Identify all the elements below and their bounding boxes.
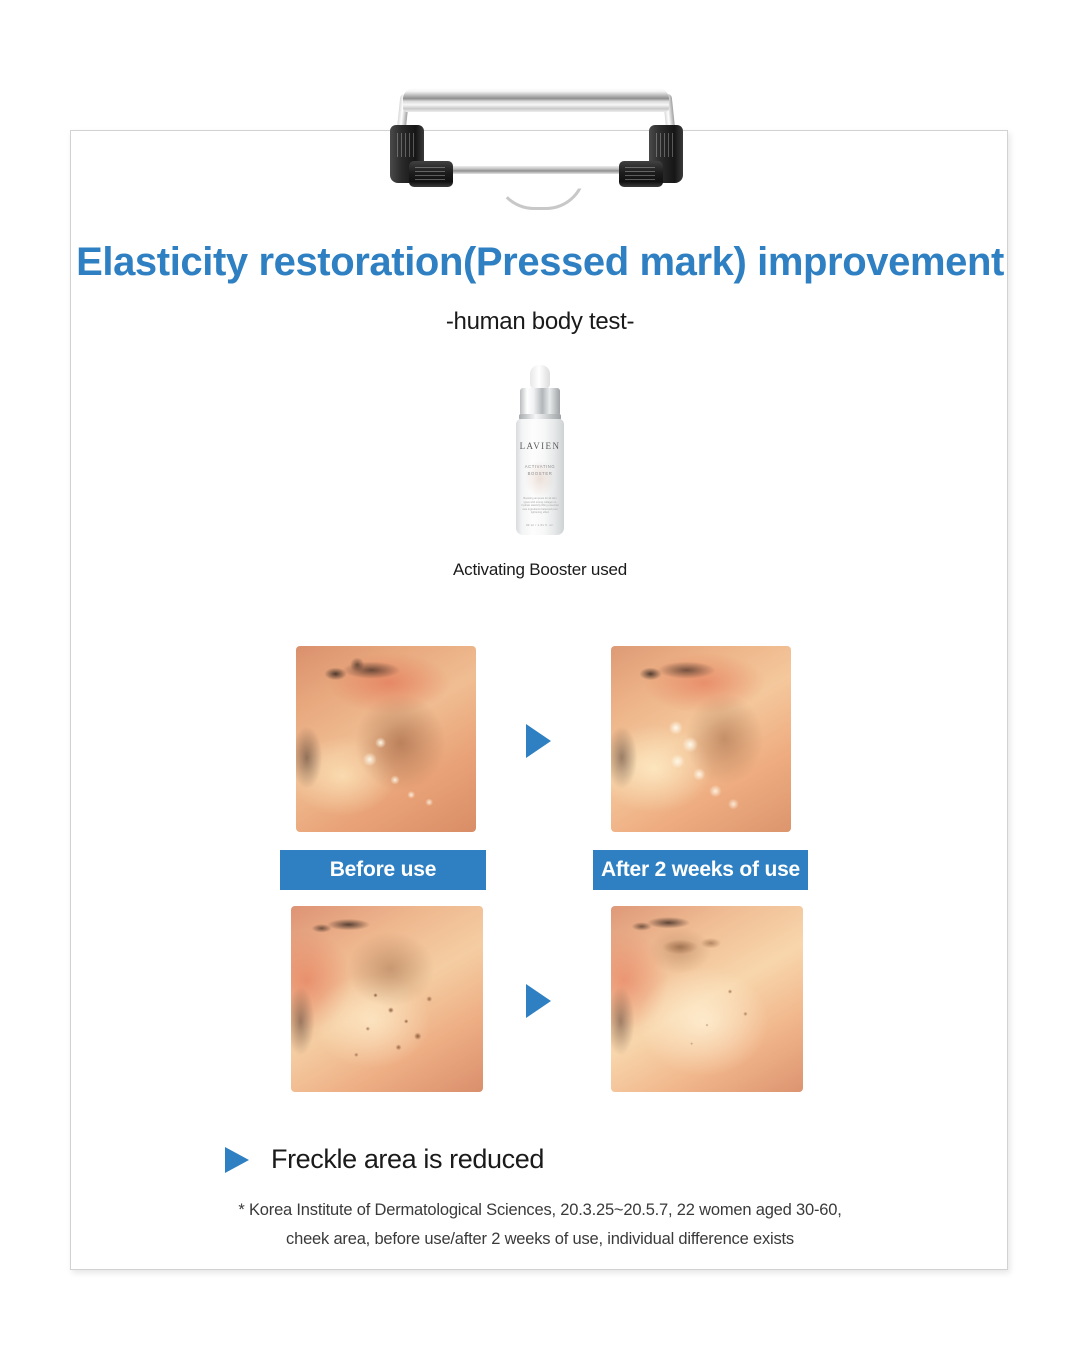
- skin-scan-after-subject-a: [611, 646, 791, 832]
- before-use-badge: Before use: [280, 850, 486, 890]
- comparison-arrow-icon-row1: [526, 724, 551, 758]
- conclusion-row: Freckle area is reduced: [225, 1144, 544, 1175]
- content-sheet: [70, 130, 1008, 1270]
- footnote-line-2: cheek area, before use/after 2 weeks of …: [140, 1225, 940, 1254]
- skin-scan-surface: [291, 906, 483, 1092]
- clip-foot-left-icon: [409, 161, 453, 187]
- footnote: * Korea Institute of Dermatological Scie…: [140, 1196, 940, 1254]
- clip-top-bar-icon: [403, 88, 669, 112]
- bottle-cap-icon: [520, 388, 560, 416]
- bottle-brand-label: LAVIEN: [516, 441, 564, 451]
- skin-scan-after-subject-b: [611, 906, 803, 1092]
- skin-scan-surface: [611, 906, 803, 1092]
- bottle-volume-label: 30 ml / 1.01 fl. oz.: [516, 523, 564, 527]
- skin-scan-surface: [611, 646, 791, 832]
- comparison-arrow-icon-row2: [526, 984, 551, 1018]
- bottle-fine-print: Boosting ampoule for all skin types with…: [521, 497, 559, 515]
- triangle-right-icon: [225, 1147, 249, 1173]
- clip-foot-right-icon: [619, 161, 663, 187]
- conclusion-text: Freckle area is reduced: [271, 1144, 544, 1175]
- product-caption: Activating Booster used: [0, 560, 1080, 580]
- skin-scan-before-subject-a: [296, 646, 476, 832]
- bottle-body: LAVIEN ACTIVATING BOOSTER Boosting ampou…: [516, 419, 564, 535]
- skin-scan-surface: [296, 646, 476, 832]
- footnote-line-1: * Korea Institute of Dermatological Scie…: [140, 1196, 940, 1225]
- page-title: Elasticity restoration(Pressed mark) imp…: [0, 240, 1080, 285]
- dropper-tip-icon: [530, 365, 550, 389]
- page-subtitle: -human body test-: [0, 308, 1080, 336]
- product-bottle-image: LAVIEN ACTIVATING BOOSTER Boosting ampou…: [506, 365, 574, 535]
- after-two-weeks-badge: After 2 weeks of use: [593, 850, 808, 890]
- bottle-line-label: ACTIVATING BOOSTER: [516, 463, 564, 477]
- skin-scan-before-subject-b: [291, 906, 483, 1092]
- clipboard-clip: [377, 88, 695, 200]
